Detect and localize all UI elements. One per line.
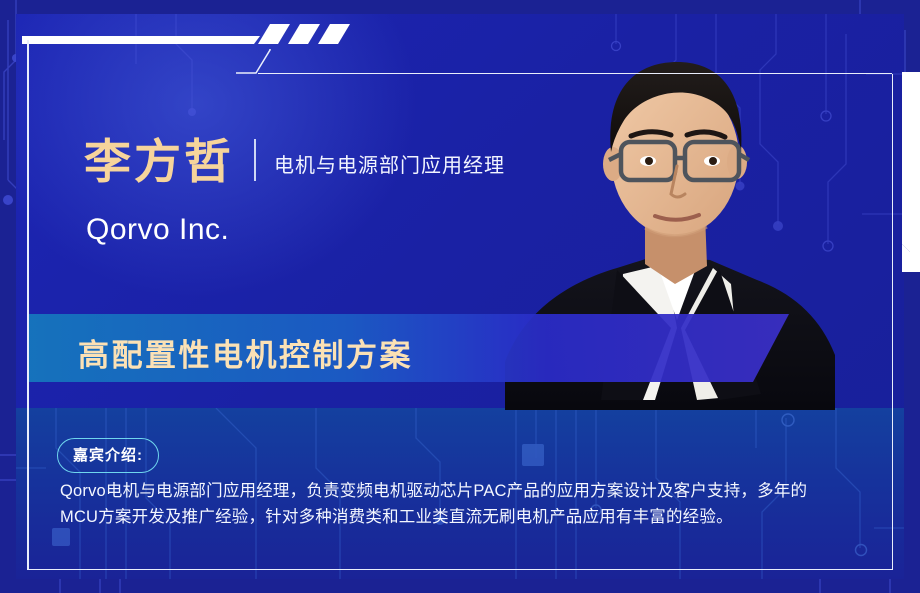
guest-intro-line-1: Qorvo电机与电源部门应用经理，负责变频电机驱动芯片PAC产品的应用方案设计及… <box>60 478 870 504</box>
speaker-poster: 高配置性电机控制方案 李方哲 电机与电源部门应用经理 Qorvo Inc. 嘉宾… <box>0 0 920 593</box>
speaker-name: 李方哲 <box>84 138 234 185</box>
top-left-accent-bar <box>22 24 358 44</box>
speaker-role: 电机与电源部门应用经理 <box>274 149 505 178</box>
speaker-identity: 李方哲 电机与电源部门应用经理 <box>84 138 505 185</box>
guest-intro-description: Qorvo电机与电源部门应用经理，负责变频电机驱动芯片PAC产品的应用方案设计及… <box>60 478 870 530</box>
name-divider <box>254 139 256 181</box>
speaker-company: Qorvo Inc. <box>86 213 229 247</box>
banner-title: 高配置性电机控制方案 <box>78 330 413 375</box>
right-edge-accent <box>890 22 920 272</box>
guest-intro-badge: 嘉宾介绍: <box>57 438 159 473</box>
guest-intro-line-2: MCU方案开发及推广经验，针对多种消费类和工业类直流无刷电机产品应用有丰富的经验… <box>60 504 870 530</box>
